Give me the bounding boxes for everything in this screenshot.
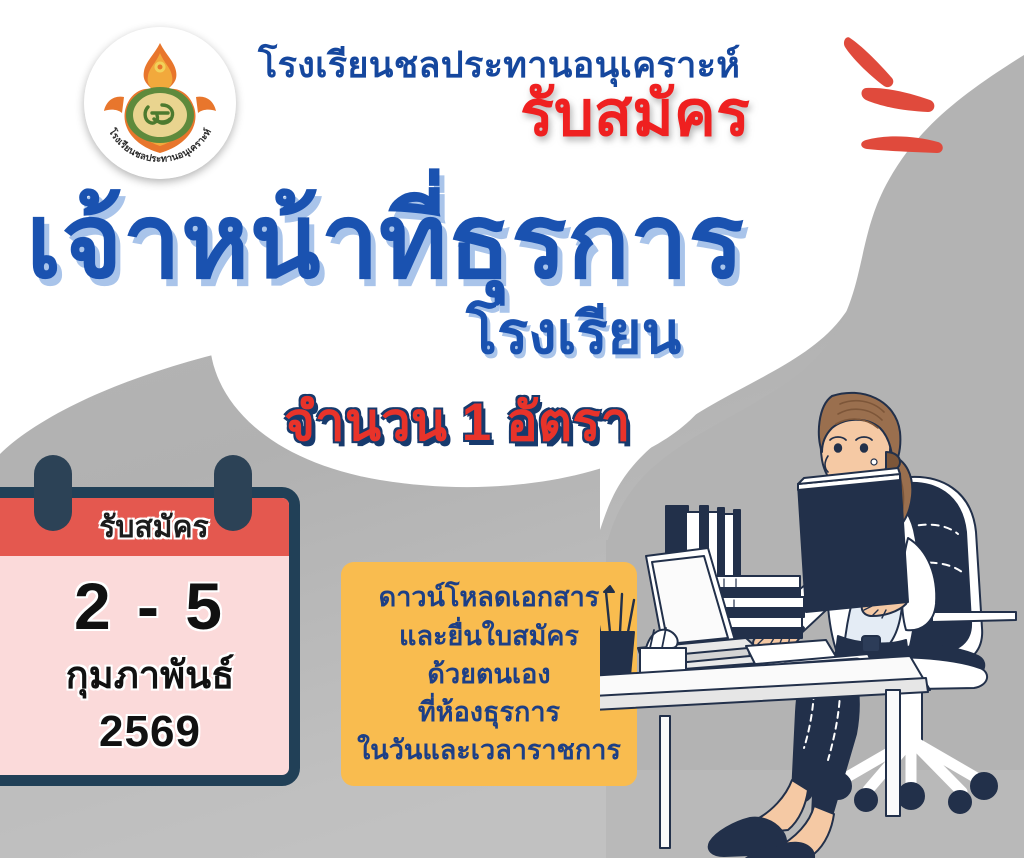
calendar-month: กุมภาพันธ์ — [0, 644, 289, 705]
calendar-body: รับสมัคร 2 - 5 กุมภาพันธ์ 2569 — [0, 487, 300, 786]
application-date-calendar: รับสมัคร 2 - 5 กุมภาพันธ์ 2569 — [0, 487, 300, 786]
recruit-headline: รับสมัคร — [520, 83, 880, 146]
job-title: เจ้าหน้าที่ธุรการ — [26, 190, 816, 294]
office-worker-illustration — [600, 360, 1024, 858]
navy-folder — [798, 468, 908, 612]
school-logo: โรงเรียนชลประทานอนุเคราะห์ — [84, 27, 236, 179]
job-subtitle: โรงเรียน — [466, 305, 806, 363]
instruction-line: ด้วยตนเอง — [427, 655, 550, 693]
instruction-line: ดาวน์โหลดเอกสาร — [379, 578, 600, 616]
office-scene-icon — [600, 360, 1024, 858]
pen-cup — [600, 586, 634, 676]
school-emblem-icon: โรงเรียนชลประทานอนุเคราะห์ — [84, 27, 236, 179]
job-announcement-poster: โรงเรียนชลประทานอนุเคราะห์ โรงเรียนชลประ… — [0, 0, 1024, 858]
instruction-line: ที่ห้องธุรการ — [418, 693, 560, 731]
calendar-ring-right — [214, 455, 252, 531]
instruction-line: และยื่นใบสมัคร — [399, 617, 579, 655]
calendar-ring-left — [34, 455, 72, 531]
calendar-year: 2569 — [0, 707, 289, 757]
instruction-line: ในวันและเวลาราชการ — [357, 731, 621, 769]
instructions-card: ดาวน์โหลดเอกสาร และยื่นใบสมัคร ด้วยตนเอง… — [341, 562, 637, 786]
calendar-days: 2 - 5 — [0, 568, 289, 644]
calendar-header-label: รับสมัคร — [67, 504, 208, 551]
